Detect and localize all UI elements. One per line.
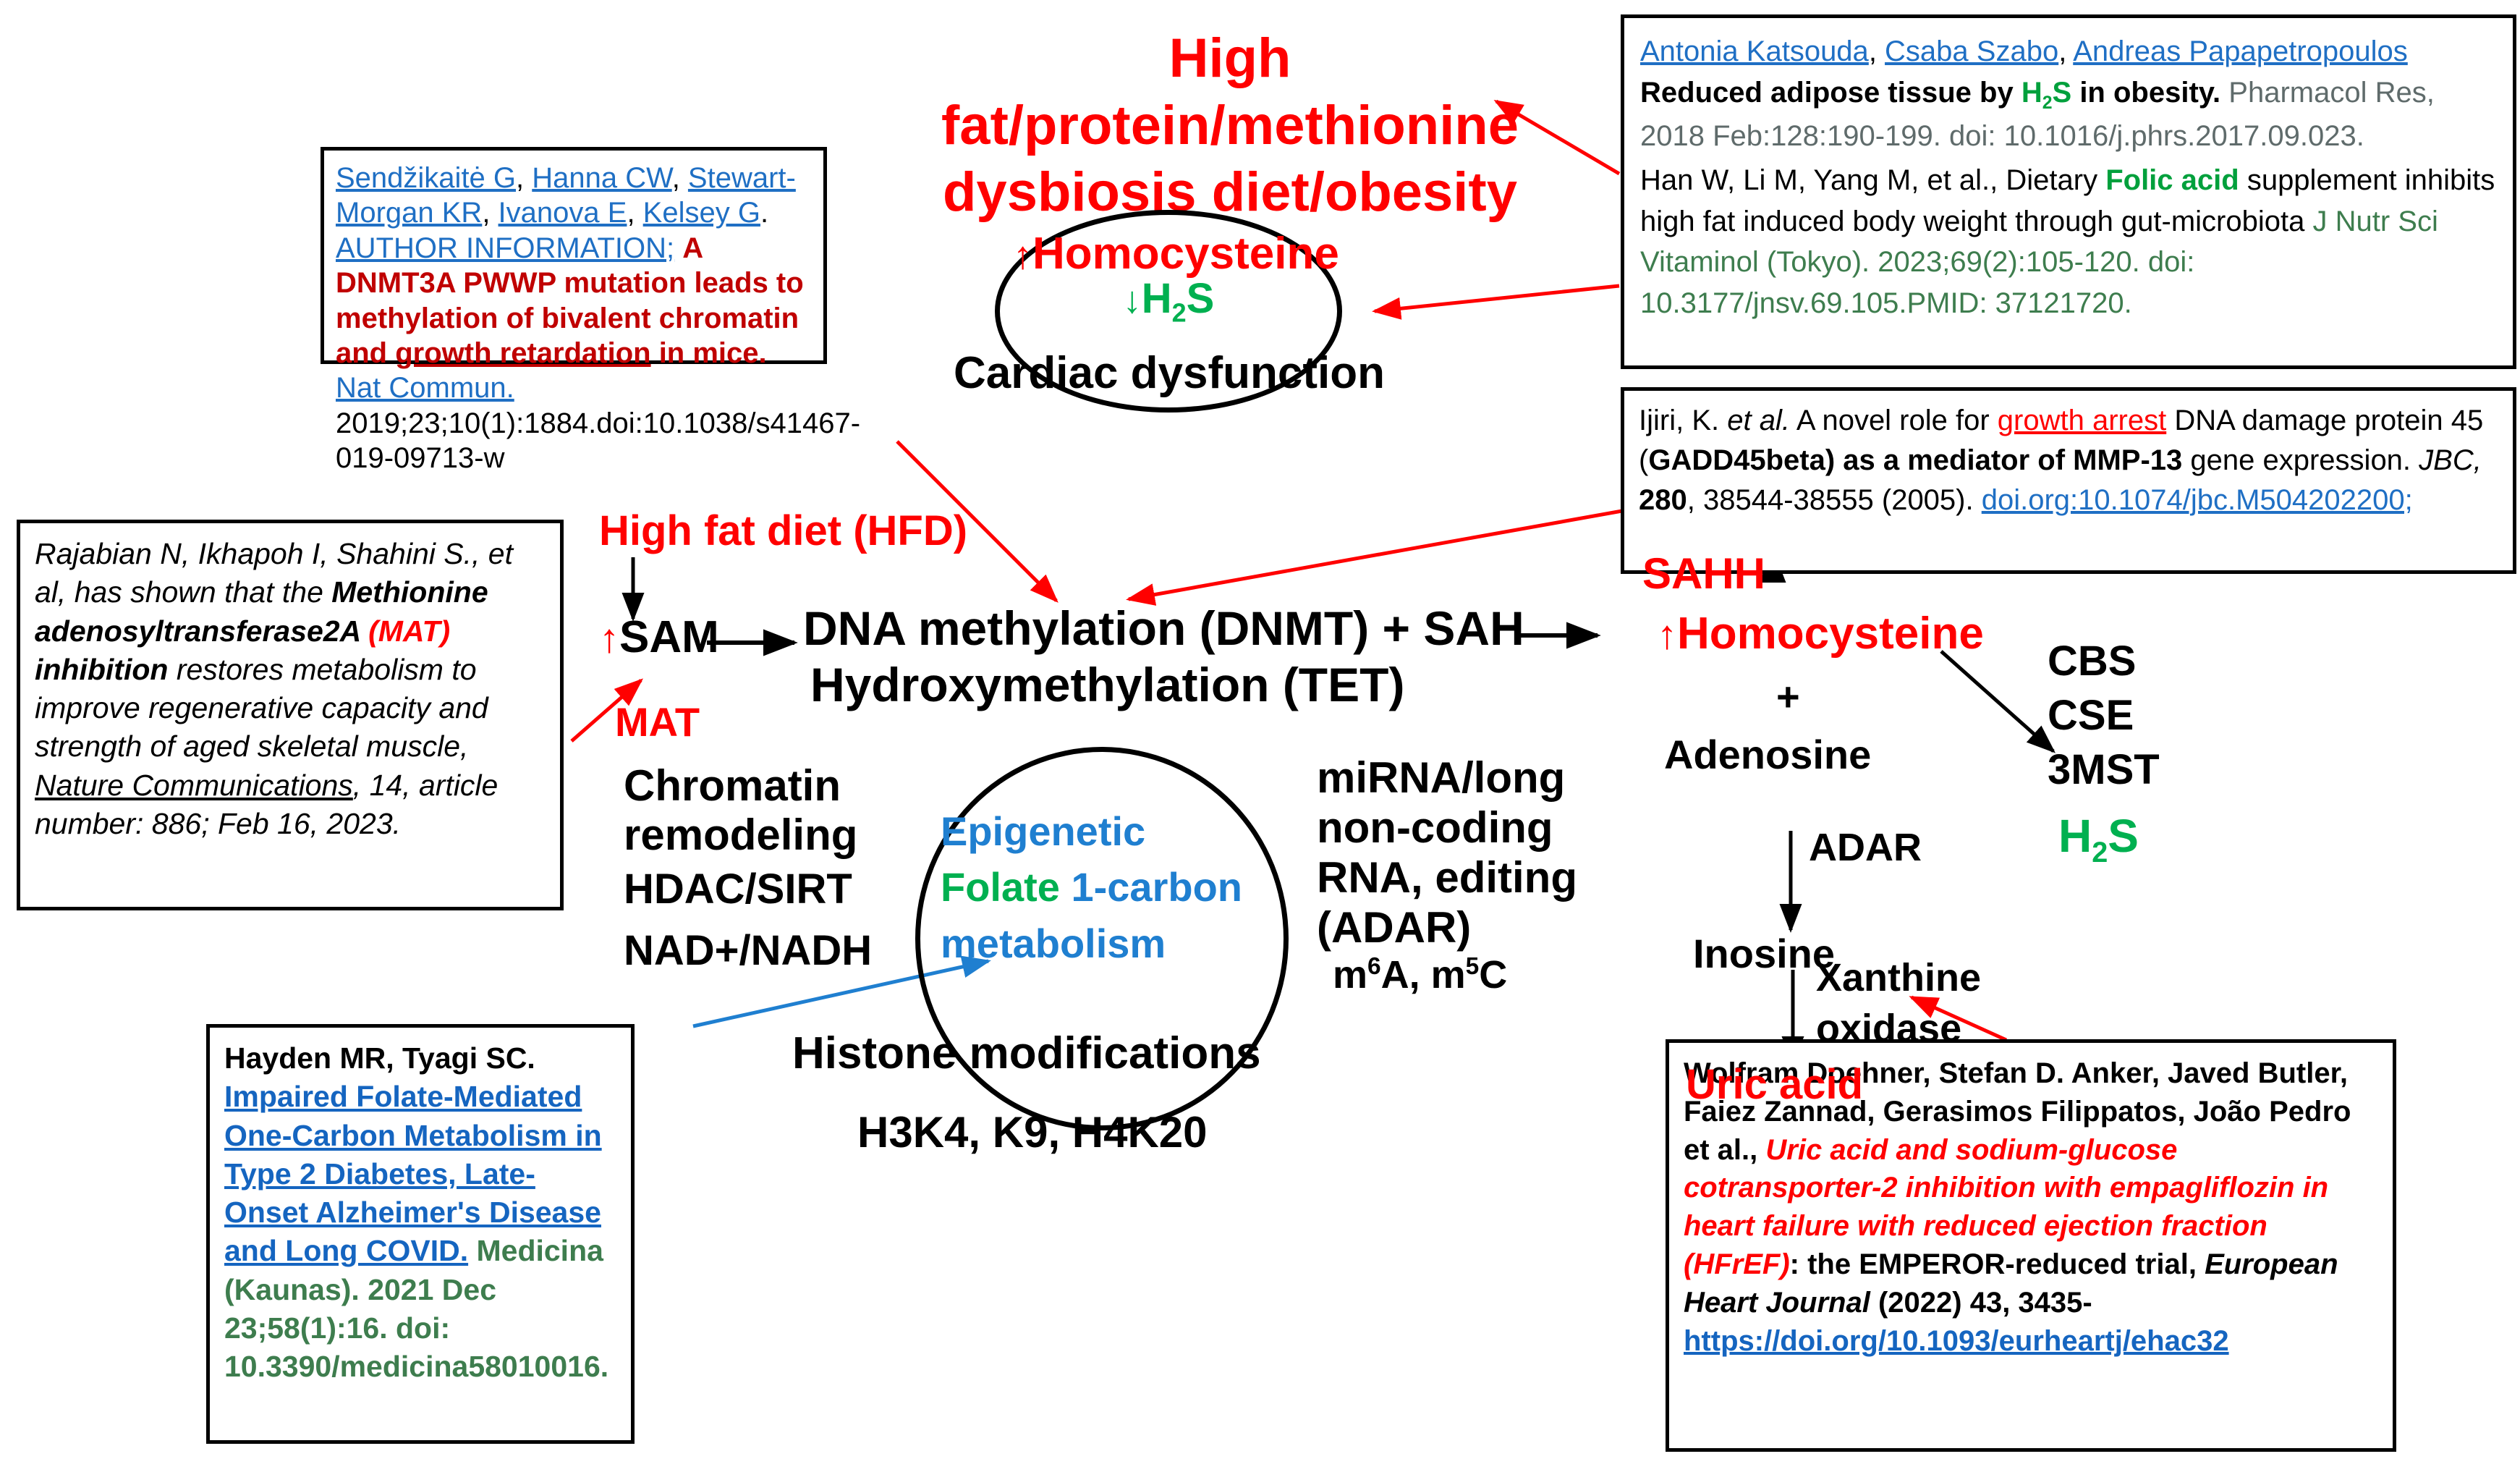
citation-title-tail: in mice. [651,337,767,369]
adar-label: ADAR [1809,825,1922,870]
inhibition-label: inhibition [35,653,168,686]
doi-link[interactable]: https://doi.org/10.1093/eurheartj/ehac32 [1684,1325,2229,1357]
mat-label: MAT [615,698,700,745]
mat-abbrev: (MAT) [368,614,450,648]
chromatin-line1: Chromatin [624,761,857,811]
growth-arrest-label: growth arrest [1998,405,2166,436]
histone-marks-label: H3K4, K9, H4K20 [857,1107,1208,1157]
citation-title-tail: in obesity. [2071,77,2220,109]
epigenetic-label: Epigenetic [941,803,1266,859]
homocysteine-up-arrow-icon: ↑ [1657,612,1677,657]
citation-box-ijiri[interactable]: Ijiri, K. et al. A novel role for growth… [1621,387,2516,574]
citation-title-underlined: growth retardation [395,337,650,369]
journal-volume: 280 [1639,484,1687,516]
folic-acid-label: Folic acid [2105,164,2239,196]
dna-methylation-label: DNA methylation (DNMT) + SAH Hydroxymeth… [803,601,1524,714]
journal-link[interactable]: Nat Commun. [336,372,514,404]
journal-name: JBC, [2419,444,2482,476]
histone-modifications-label: Histone modifications [792,1028,1261,1079]
mirna-line2: non-coding [1317,803,1577,853]
citation-title: Reduced adipose tissue by [1640,77,2021,109]
doi-link[interactable]: doi.org:10.1074/jbc.M504202200; [1982,484,2413,516]
journal-volume: (2022) 43, 3435- [1870,1287,2092,1319]
adenosine-label: Adenosine [1664,731,1871,778]
author-link[interactable]: Hanna CW [532,162,671,194]
mirna-line3: RNA, editing [1317,853,1577,902]
arrow-homocysteine-to-h2s [1941,651,2053,751]
sam-label: ↑SAM [599,612,719,663]
citation-mid: A novel role for [1790,405,1998,436]
mst3-label: 3MST [2048,745,2160,794]
mirna-block: miRNA/long non-coding RNA, editing (ADAR… [1317,753,1577,997]
sam-up-arrow-icon: ↑ [599,615,619,661]
homocysteine-right-label: ↑Homocysteine [1657,608,1984,659]
oxidase-label: oxidase [1816,1006,1961,1051]
citation-box-sendzikaite[interactable]: Sendžikaitė G, Hanna CW, Stewart-Morgan … [321,147,827,364]
dna-methylation-line1: DNA methylation (DNMT) + SAH [803,601,1524,657]
citation-detail: 2019;23;10(1):1884.doi:10.1038/s41467-01… [336,407,860,474]
title-dysbiosis-diet: High fat/protein/methionine dysbiosis di… [904,25,1556,227]
citation-trial: : the EMPEROR-reduced trial, [1790,1248,2205,1280]
author-link[interactable]: Kelsey G [643,197,760,229]
homocysteine-ellipse-content: ↑Homocysteine ↓H2S [1013,230,1324,326]
h2s-label: H2S [1142,275,1215,322]
cbs-label: CBS [2048,637,2136,685]
chromatin-remodeling-label: Chromatin remodeling [624,761,857,860]
mirna-line4: (ADAR) [1317,902,1577,952]
cse-label: CSE [2048,691,2134,740]
sahh-label: SAHH [1642,549,1765,599]
author-link[interactable]: Andreas Papapetropoulos [2073,35,2408,67]
author-link[interactable]: Ivanova E [499,197,627,229]
author-link[interactable]: Sendžikaitė G [336,162,516,194]
xanthine-label: Xanthine [1816,955,1981,1000]
high-fat-diet-label: High fat diet (HFD) [599,507,967,555]
cardiac-dysfunction-label: Cardiac dysfunction [954,347,1385,399]
citation-mid3: gene expression. [2182,444,2419,476]
homocysteine-label: Homocysteine [1032,229,1339,279]
citation-box-katsouda[interactable]: Antonia Katsouda, Csaba Szabo, Andreas P… [1621,14,2516,369]
figure-canvas: Sendžikaitė G, Hanna CW, Stewart-Morgan … [0,0,2520,1459]
rna-modifications-label: m6A, m5C [1317,952,1577,997]
citation-authors: Hayden MR, Tyagi SC. [224,1041,535,1075]
author-link[interactable]: Antonia Katsouda [1640,35,1869,67]
journal-name: Nature Communications [35,769,353,802]
journal-pages: , 38544-38555 (2005). [1687,484,1982,516]
hdac-sirt-label: HDAC/SIRT [624,865,852,913]
et-al: et al. [1727,405,1790,436]
epigenetic-ellipse-content: Epigenetic Folate 1-carbon metabolism [941,803,1266,971]
citation2-authors: Han W, Li M, Yang M, et al., Dietary [1640,164,2105,196]
hydroxymethylation-line2: Hydroxymethylation (TET) [803,657,1524,714]
up-arrow-icon: ↑ [1013,234,1032,277]
down-arrow-icon: ↓ [1123,279,1142,321]
h2s-right-label: H2S [2058,809,2139,869]
citation-box-hayden[interactable]: Hayden MR, Tyagi SC. Impaired Folate-Med… [206,1024,635,1444]
chromatin-line2: remodeling [624,811,857,860]
uric-acid-label: Uric acid [1686,1060,1863,1109]
nad-nadh-label: NAD+/NADH [624,926,872,975]
inosine-label: Inosine [1693,930,1835,977]
author-link[interactable]: Csaba Szabo [1885,35,2058,67]
citation-box-rajabian[interactable]: Rajabian N, Ikhapoh I, Shahini S., et al… [17,520,564,910]
arrow-katsouda-to-ellipse [1375,286,1619,311]
author-information-link[interactable]: AUTHOR INFORMATION [336,232,666,264]
h2s-label: H2S [2021,77,2071,109]
citation-authors: Ijiri, K. [1639,405,1727,436]
folate-one-carbon-label: Folate 1-carbon [941,859,1266,915]
metabolism-label: metabolism [941,915,1266,971]
plus-sign: + [1776,673,1800,720]
citation-bold: GADD45beta) as a mediator of MMP-13 [1648,444,2182,476]
mirna-line1: miRNA/long [1317,753,1577,803]
